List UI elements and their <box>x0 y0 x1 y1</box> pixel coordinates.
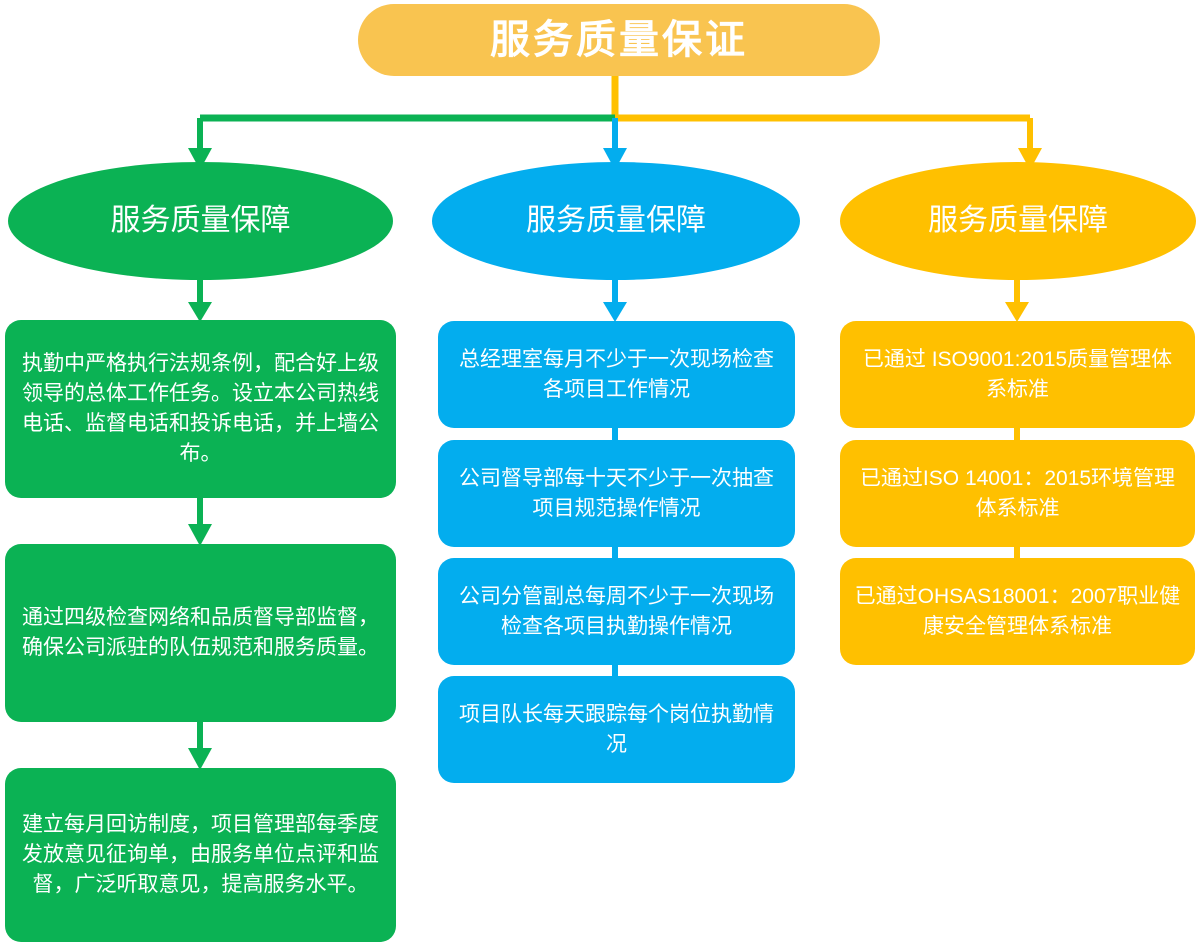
branch-heading-orange[interactable]: 服务质量保障 <box>840 162 1196 280</box>
orange-node-3-label: 已通过OHSAS18001：2007职业健康安全管理体系标准 <box>854 582 1181 642</box>
green-node-2[interactable]: 通过四级检查网络和品质督导部监督，确保公司派驻的队伍规范和服务质量。 <box>5 544 396 722</box>
orange-node-2-label: 已通过ISO 14001：2015环境管理体系标准 <box>854 464 1181 524</box>
orange-node-1[interactable]: 已通过 ISO9001:2015质量管理体系标准 <box>840 321 1195 428</box>
diagram-title: 服务质量保证 <box>358 4 880 76</box>
green-arrow-2 <box>188 524 212 546</box>
branch-heading-green-label: 服务质量保障 <box>111 206 291 236</box>
blue-node-1[interactable]: 总经理室每月不少于一次现场检查各项目工作情况 <box>438 321 795 428</box>
branch-heading-blue-label: 服务质量保障 <box>526 206 706 236</box>
green-node-1-label: 执勤中严格执行法规条例，配合好上级领导的总体工作任务。设立本公司热线电话、监督电… <box>19 349 382 468</box>
blue-arrow-1 <box>603 302 627 322</box>
flowchart-canvas: 服务质量保证 <box>0 0 1200 942</box>
blue-node-3[interactable]: 公司分管副总每周不少于一次现场检查各项目执勤操作情况 <box>438 558 795 665</box>
blue-node-1-label: 总经理室每月不少于一次现场检查各项目工作情况 <box>452 345 781 405</box>
branch-heading-green[interactable]: 服务质量保障 <box>8 162 393 280</box>
orange-node-3[interactable]: 已通过OHSAS18001：2007职业健康安全管理体系标准 <box>840 558 1195 665</box>
green-node-3-label: 建立每月回访制度，项目管理部每季度发放意见征询单，由服务单位点评和监督，广泛听取… <box>19 810 382 899</box>
green-arrow-1 <box>188 302 212 322</box>
orange-node-2[interactable]: 已通过ISO 14001：2015环境管理体系标准 <box>840 440 1195 547</box>
blue-node-3-label: 公司分管副总每周不少于一次现场检查各项目执勤操作情况 <box>452 582 781 642</box>
blue-node-2-label: 公司督导部每十天不少于一次抽查项目规范操作情况 <box>452 464 781 524</box>
orange-arrow-1 <box>1005 302 1029 322</box>
green-arrow-3 <box>188 748 212 770</box>
diagram-title-label: 服务质量保证 <box>490 20 748 60</box>
branch-heading-blue[interactable]: 服务质量保障 <box>432 162 800 280</box>
blue-node-4[interactable]: 项目队长每天跟踪每个岗位执勤情况 <box>438 676 795 783</box>
branch-heading-orange-label: 服务质量保障 <box>928 206 1108 236</box>
blue-node-4-label: 项目队长每天跟踪每个岗位执勤情况 <box>452 700 781 760</box>
green-node-2-label: 通过四级检查网络和品质督导部监督，确保公司派驻的队伍规范和服务质量。 <box>19 603 382 663</box>
green-node-1[interactable]: 执勤中严格执行法规条例，配合好上级领导的总体工作任务。设立本公司热线电话、监督电… <box>5 320 396 498</box>
green-node-3[interactable]: 建立每月回访制度，项目管理部每季度发放意见征询单，由服务单位点评和监督，广泛听取… <box>5 768 396 942</box>
blue-node-2[interactable]: 公司督导部每十天不少于一次抽查项目规范操作情况 <box>438 440 795 547</box>
orange-node-1-label: 已通过 ISO9001:2015质量管理体系标准 <box>854 345 1181 405</box>
